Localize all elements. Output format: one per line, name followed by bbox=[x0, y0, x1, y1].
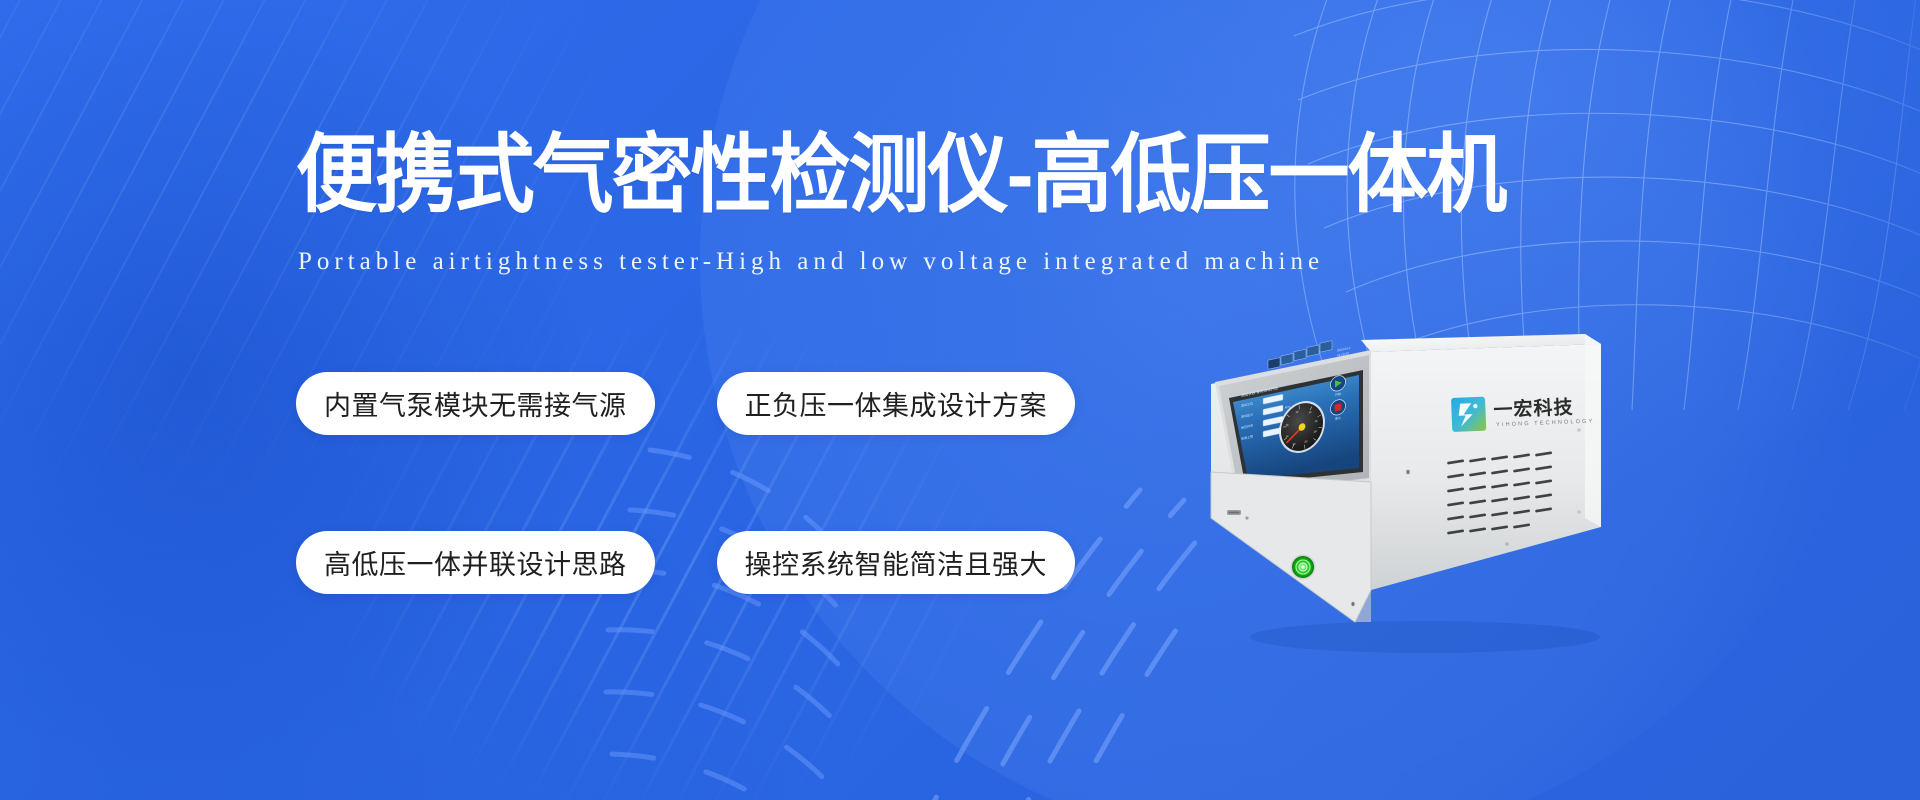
feature-pill-row: 内置气泵模块无需接气源 正负压一体集成设计方案 bbox=[296, 372, 1126, 435]
svg-text:22: 22 bbox=[1293, 442, 1296, 447]
svg-text:14: 14 bbox=[1309, 410, 1312, 415]
page-subtitle: Portable airtightness tester-High and lo… bbox=[298, 248, 1324, 276]
svg-text:20: 20 bbox=[1305, 439, 1308, 444]
feature-pill-list: 内置气泵模块无需接气源 正负压一体集成设计方案 高低压一体并联设计思路 操控系统… bbox=[296, 372, 1126, 594]
product-banner: 便携式气密性检测仪-高低压一体机 Portable airtightness t… bbox=[0, 0, 1920, 800]
feature-pill-1[interactable]: 内置气泵模块无需接气源 bbox=[296, 372, 655, 435]
page-title: 便携式气密性检测仪-高低压一体机 bbox=[296, 132, 1505, 218]
svg-text:26: 26 bbox=[1286, 423, 1289, 428]
feature-pill-4[interactable]: 操控系统智能简洁且强大 bbox=[717, 531, 1076, 594]
svg-text:18: 18 bbox=[1314, 429, 1317, 434]
svg-text:24: 24 bbox=[1286, 434, 1289, 439]
feature-pill-2[interactable]: 正负压一体集成设计方案 bbox=[717, 372, 1076, 435]
product-image: 2023-01-1 16:10:43 测试状态:等待测试开始 测试工位 测试压力… bbox=[1175, 322, 1645, 662]
feature-pill-3[interactable]: 高低压一体并联设计思路 bbox=[296, 531, 655, 594]
svg-text:12: 12 bbox=[1296, 409, 1299, 414]
feature-pill-row: 高低压一体并联设计思路 操控系统智能简洁且强大 bbox=[296, 531, 1126, 594]
svg-text:一宏科技: 一宏科技 bbox=[1493, 395, 1574, 421]
svg-text:16: 16 bbox=[1315, 419, 1318, 424]
